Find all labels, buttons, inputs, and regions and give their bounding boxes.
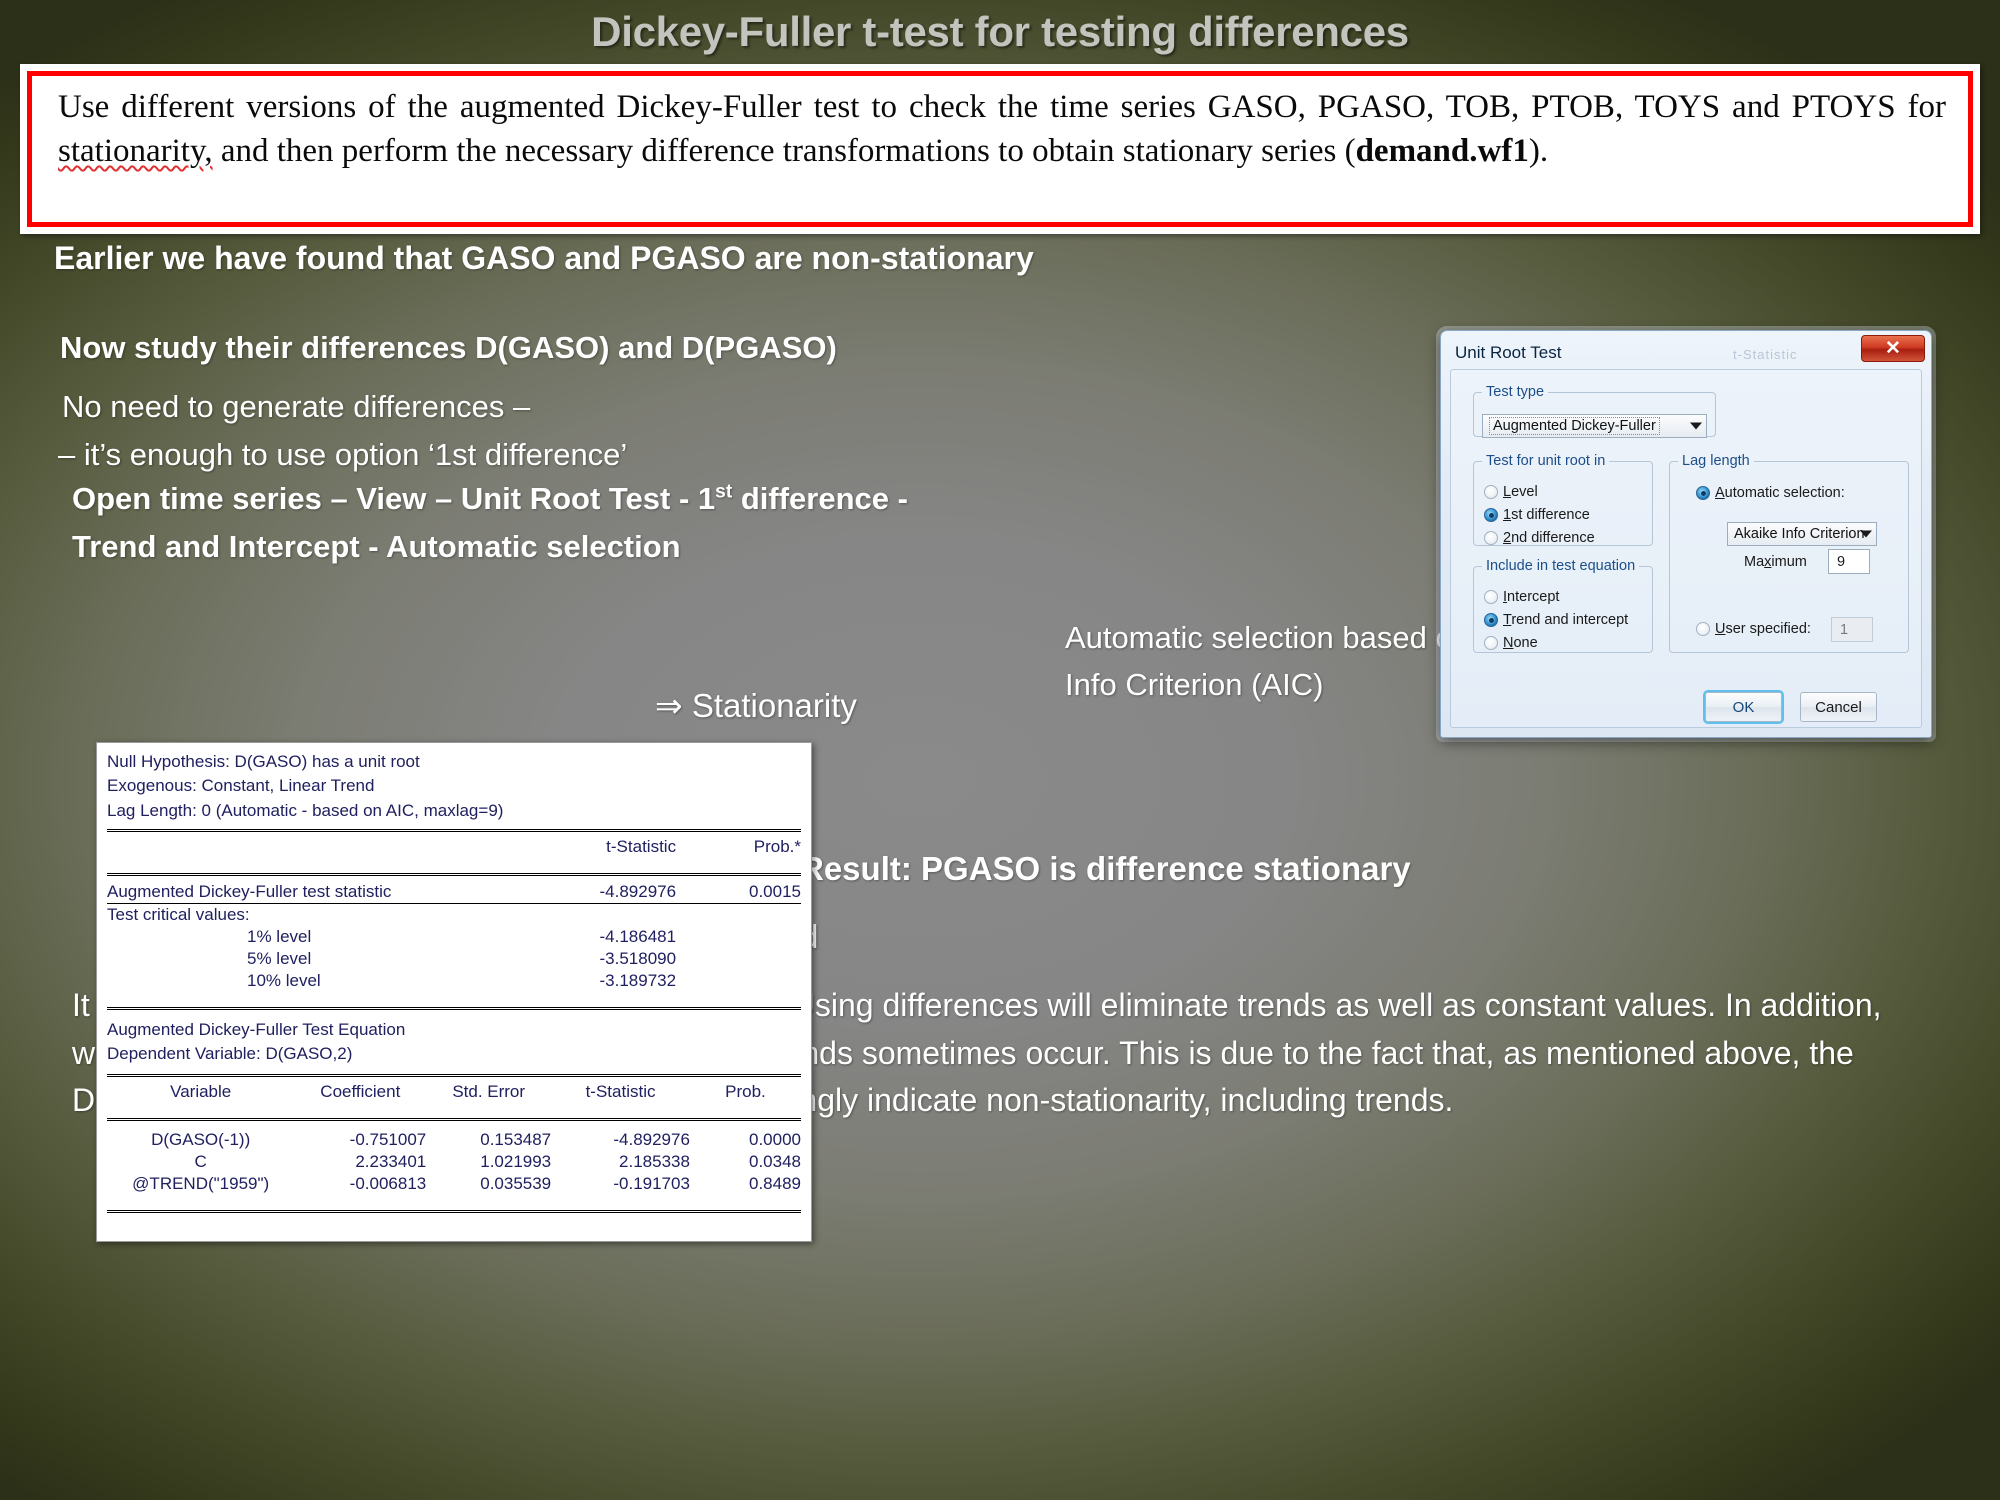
task-banner: Use different versions of the augmented … — [20, 64, 1980, 234]
line-earlier-finding: Earlier we have found that GASO and PGAS… — [54, 240, 1034, 277]
eviews-critical-label: Test critical values: — [107, 903, 496, 926]
banner-file-name: demand.wf1 — [1356, 133, 1529, 169]
chevron-down-icon — [1690, 423, 1702, 430]
slide-canvas: Dickey-Fuller t-test for testing differe… — [0, 0, 2000, 1500]
radio-dot-icon — [1484, 613, 1498, 627]
radio-auto-label: utomatic selection: — [1725, 485, 1845, 501]
open-series-superscript: st — [715, 482, 732, 503]
include-in-equation-group: Include in test equation Intercept Trend… — [1473, 558, 1653, 653]
eviews-summary-table: t-Statistic Prob.* — [107, 836, 801, 867]
test-type-value: Augmented Dickey-Fuller — [1489, 417, 1660, 435]
dialog-body: Test type Augmented Dickey-Fuller Test f… — [1450, 369, 1922, 728]
radio-trend-and-intercept[interactable]: Trend and intercept — [1484, 612, 1628, 628]
maximum-label-a: Ma — [1744, 554, 1764, 570]
radio-user-label: ser specified: — [1725, 621, 1810, 637]
eviews-lag-length: Lag Length: 0 (Automatic - based on AIC,… — [107, 799, 801, 823]
eviews-row2-stderror: 0.035539 — [426, 1173, 551, 1195]
radio-1st-accesskey: 1 — [1503, 507, 1511, 523]
radio-1st-label: st difference — [1511, 507, 1590, 523]
chevron-down-icon — [1860, 531, 1872, 538]
dialog-ghost-text: t-Statistic — [1733, 347, 1797, 362]
radio-dot-icon — [1484, 485, 1498, 499]
eviews-row0-tstat: -4.892976 — [551, 1129, 690, 1151]
eviews-crit-level-2: 10% level — [107, 970, 496, 992]
eviews-stat-table: Augmented Dickey-Fuller test statistic -… — [107, 881, 801, 1001]
lag-length-group: Lag length Automatic selection: Akaike I… — [1669, 453, 1909, 653]
line-no-need: No need to generate differences – — [62, 389, 530, 425]
eviews-null-hypothesis: Null Hypothesis: D(GASO) has a unit root — [107, 750, 801, 774]
eviews-row1-tstat: 2.185338 — [551, 1151, 690, 1173]
banner-part1: Use different versions of the augmented … — [58, 89, 1946, 125]
task-banner-text: Use different versions of the augmented … — [58, 86, 1946, 174]
test-type-legend: Test type — [1482, 384, 1548, 400]
radio-dot-icon — [1484, 636, 1498, 650]
radio-2nd-difference[interactable]: 2nd difference — [1484, 530, 1595, 546]
dialog-title: Unit Root Test — [1455, 343, 1561, 363]
radio-level-label: evel — [1511, 484, 1538, 500]
eviews-col-prob: Prob.* — [676, 836, 801, 858]
eviews-eq-col-3: t-Statistic — [551, 1081, 690, 1103]
cancel-button[interactable]: Cancel — [1800, 692, 1877, 722]
criterion-value: Akaike Info Criterion — [1734, 526, 1865, 542]
eviews-eq-col-0: Variable — [107, 1081, 294, 1103]
banner-part3: ). — [1529, 133, 1548, 169]
eviews-adf-tstat: -4.892976 — [496, 881, 676, 904]
radio-dot-icon — [1484, 531, 1498, 545]
eviews-crit-value-2: -3.189732 — [496, 970, 676, 992]
radio-none[interactable]: None — [1484, 635, 1538, 651]
radio-intercept[interactable]: Intercept — [1484, 589, 1559, 605]
eviews-adf-label: Augmented Dickey-Fuller test statistic — [107, 881, 496, 904]
eviews-row2-variable: @TREND("1959") — [107, 1173, 294, 1195]
radio-dot-icon — [1484, 590, 1498, 604]
table-row: Variable Coefficient Std. Error t-Statis… — [107, 1081, 801, 1103]
table-row: 1% level -4.186481 — [107, 926, 801, 948]
eviews-col-tstat: t-Statistic — [496, 836, 676, 858]
radio-dot-icon — [1696, 486, 1710, 500]
test-type-select[interactable]: Augmented Dickey-Fuller — [1482, 414, 1707, 438]
eviews-rule-6 — [107, 1210, 801, 1213]
eviews-row0-variable: D(GASO(-1)) — [107, 1129, 294, 1151]
open-series-b: difference - — [732, 481, 908, 516]
radio-2nd-label: nd difference — [1511, 530, 1595, 546]
include-legend: Include in test equation — [1482, 558, 1639, 574]
eviews-row1-prob: 0.0348 — [690, 1151, 801, 1173]
eviews-eq-col-2: Std. Error — [426, 1081, 551, 1103]
eviews-row2-prob: 0.8489 — [690, 1173, 801, 1195]
criterion-select[interactable]: Akaike Info Criterion — [1727, 522, 1877, 546]
radio-dot-icon — [1696, 622, 1710, 636]
banner-squiggle-word: stationarity, — [58, 133, 213, 169]
page-title: Dickey-Fuller t-test for testing differe… — [0, 8, 2000, 56]
task-banner-inner: Use different versions of the augmented … — [27, 71, 1973, 227]
eviews-crit-level-1: 5% level — [107, 948, 496, 970]
radio-dot-icon — [1484, 508, 1498, 522]
maximum-input[interactable]: 9 — [1828, 549, 1870, 574]
unit-root-in-legend: Test for unit root in — [1482, 453, 1609, 469]
eviews-row1-variable: C — [107, 1151, 294, 1173]
banner-part2: and then perform the necessary differenc… — [213, 133, 1356, 169]
eviews-crit-value-1: -3.518090 — [496, 948, 676, 970]
maximum-label-b: imum — [1771, 554, 1806, 570]
user-specified-input[interactable]: 1 — [1831, 617, 1873, 642]
eviews-dependent-variable: Dependent Variable: D(GASO,2) — [107, 1042, 801, 1066]
radio-none-accesskey: N — [1503, 635, 1513, 651]
ok-button[interactable]: OK — [1705, 692, 1782, 722]
eviews-row0-prob: 0.0000 — [690, 1129, 801, 1151]
table-row: D(GASO(-1)) -0.751007 0.153487 -4.892976… — [107, 1129, 801, 1151]
eviews-row1-stderror: 1.021993 — [426, 1151, 551, 1173]
eviews-eq-col-4: Prob. — [690, 1081, 801, 1103]
line-trend-intercept: Trend and Intercept - Automatic selectio… — [72, 529, 681, 565]
eviews-exogenous: Exogenous: Constant, Linear Trend — [107, 774, 801, 798]
maximum-label: Maximum — [1744, 554, 1807, 570]
lag-length-legend: Lag length — [1678, 453, 1754, 469]
radio-user-specified[interactable]: User specified: — [1696, 621, 1811, 637]
radio-trend-label: rend and intercept — [1511, 612, 1628, 628]
unit-root-test-dialog: Unit Root Test t-Statistic ✕ Test type A… — [1440, 330, 1932, 738]
eviews-adf-prob: 0.0015 — [676, 881, 801, 904]
radio-1st-difference[interactable]: 1st difference — [1484, 507, 1590, 523]
eviews-row0-coefficient: -0.751007 — [294, 1129, 426, 1151]
eviews-coefficient-rows: D(GASO(-1)) -0.751007 0.153487 -4.892976… — [107, 1129, 801, 1204]
callout-result: Result: PGASO is difference stationary — [800, 850, 1411, 888]
radio-intercept-label: ntercept — [1507, 589, 1559, 605]
eviews-eq-col-1: Coefficient — [294, 1081, 426, 1103]
radio-user-accesskey: U — [1715, 621, 1725, 637]
eviews-row1-coefficient: 2.233401 — [294, 1151, 426, 1173]
radio-2nd-accesskey: 2 — [1503, 530, 1511, 546]
eviews-row2-tstat: -0.191703 — [551, 1173, 690, 1195]
table-row: Test critical values: — [107, 903, 801, 926]
line-open-series: Open time series – View – Unit Root Test… — [72, 481, 908, 517]
radio-level[interactable]: Level — [1484, 484, 1538, 500]
radio-none-label: one — [1513, 635, 1537, 651]
eviews-equation-title: Augmented Dickey-Fuller Test Equation — [107, 1018, 801, 1042]
eviews-coefficient-table: Variable Coefficient Std. Error t-Statis… — [107, 1081, 801, 1112]
table-row: 10% level -3.189732 — [107, 970, 801, 992]
close-icon[interactable]: ✕ — [1861, 335, 1925, 362]
eviews-row2-coefficient: -0.006813 — [294, 1173, 426, 1195]
eviews-output-panel: Null Hypothesis: D(GASO) has a unit root… — [96, 742, 812, 1242]
radio-level-accesskey: L — [1503, 484, 1511, 500]
callout-stationarity: ⇒ Stationarity — [655, 686, 857, 725]
open-series-a: Open time series – View – Unit Root Test… — [72, 481, 715, 516]
line-now-study: Now study their differences D(GASO) and … — [60, 330, 837, 366]
table-row: 5% level -3.518090 — [107, 948, 801, 970]
table-row: C 2.233401 1.021993 2.185338 0.0348 — [107, 1151, 801, 1173]
table-row: Augmented Dickey-Fuller test statistic -… — [107, 881, 801, 904]
eviews-row0-stderror: 0.153487 — [426, 1129, 551, 1151]
test-type-group: Test type Augmented Dickey-Fuller — [1473, 384, 1716, 437]
radio-auto-accesskey: A — [1715, 485, 1725, 501]
eviews-crit-value-0: -4.186481 — [496, 926, 676, 948]
radio-automatic-selection[interactable]: Automatic selection: — [1696, 485, 1845, 501]
table-row: @TREND("1959") -0.006813 0.035539 -0.191… — [107, 1173, 801, 1195]
eviews-crit-level-0: 1% level — [107, 926, 496, 948]
table-row: t-Statistic Prob.* — [107, 836, 801, 858]
unit-root-in-group: Test for unit root in Level 1st differen… — [1473, 453, 1653, 546]
line-enough-option: – it’s enough to use option ‘1st differe… — [58, 437, 627, 473]
